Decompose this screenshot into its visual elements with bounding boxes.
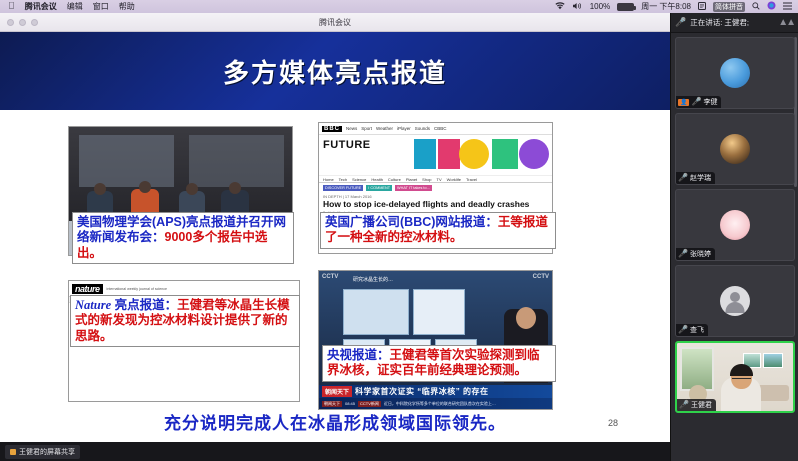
caption-aps: 美国物理学会(APS)亮点报道并召开网络新闻发布会：9000多个报告中选出。 (72, 212, 294, 264)
menubar-clock[interactable]: 周一 下午8:08 (641, 1, 691, 12)
caption-cctv-blue: 央视报道： (327, 348, 390, 362)
volume-icon[interactable] (572, 2, 583, 12)
cctv-headline: 科学家首次证实 “临界冰核” 的存在 (355, 386, 488, 397)
input-method-label[interactable]: 简体拼音 (713, 2, 745, 12)
minimize-icon[interactable] (19, 19, 26, 26)
menu-app-name[interactable]: 腾讯会议 (25, 1, 57, 12)
bbc-nav: News Sport Weather iPlayer Sounds CBBC (346, 126, 447, 131)
battery-icon[interactable] (617, 3, 634, 11)
participant-name: 王健君 (691, 400, 712, 410)
cctv-watermark-right: CCTV (533, 274, 549, 280)
nature-tagline: international weekly journal of science (107, 287, 168, 291)
screen-share-label: 王健君的屏幕共享 (19, 447, 75, 457)
window-traffic-lights[interactable] (7, 19, 38, 26)
caption-nature-journal: Nature (75, 298, 111, 312)
participant-namebar: 🎤 查飞 (676, 324, 708, 336)
mic-muted-icon: 🎤 (678, 250, 688, 258)
host-badge-icon: 👤 (678, 99, 689, 106)
bbc-future-brand: FUTURE (323, 139, 371, 151)
bbc-headline: How to stop ice-delayed flights and dead… (319, 199, 552, 209)
caption-nature-blue: 亮点报道： (111, 298, 177, 312)
bbc-tags: DISCOVER FUTURE I COMMENT WHAT IT takes … (319, 183, 552, 192)
app-bottom-bar: 王健君的屏幕共享 (0, 442, 670, 461)
search-icon[interactable] (752, 2, 760, 12)
input-source-icon[interactable] (698, 2, 706, 12)
active-speaker-label: 正在讲话: 王健君; (690, 17, 749, 28)
share-icon (10, 449, 16, 455)
presentation-slide: 多方媒体亮点报道 (0, 32, 670, 442)
menu-edit[interactable]: 编辑 (67, 1, 83, 12)
bbc-kicker: IN DEPTH | 17 March 2016 (319, 192, 552, 199)
participant-namebar: 🎤 张晓婷 (676, 248, 715, 260)
control-center-icon[interactable] (783, 2, 792, 12)
caption-cctv: 央视报道：王健君等首次实验探测到临界冰核，证实百年前经典理论预测。 (322, 345, 556, 382)
tencent-meeting-icon: ▲▲ (778, 17, 794, 28)
menu-help[interactable]: 帮助 (119, 1, 135, 12)
menu-window[interactable]: 窗口 (93, 1, 109, 12)
close-icon[interactable] (7, 19, 14, 26)
slide-title: 多方媒体亮点报道 (223, 53, 447, 90)
mic-muted-icon: 🎤 (675, 18, 686, 27)
wifi-icon[interactable] (555, 2, 565, 12)
participant-tile-lijian[interactable]: 👤 🎤 李健 (675, 37, 795, 109)
caption-bbc: 英国广播公司(BBC)网站报道：王等报道了一种全新的控冰材料。 (320, 212, 556, 249)
avatar (720, 286, 750, 316)
zoom-icon[interactable] (31, 19, 38, 26)
mic-muted-icon: 🎤 (678, 326, 688, 334)
participants-list: 👤 🎤 李健 🎤 赵学瑞 🎤 张晓婷 (671, 33, 798, 417)
screen-root:  腾讯会议 编辑 窗口 帮助 100% 周一 下午8:08 简体拼音 (0, 0, 798, 461)
caption-nature: Nature 亮点报道：王健君等冰晶生长模式的新发现为控冰材料设计提供了新的思路… (70, 295, 300, 347)
participant-name: 李健 (703, 97, 717, 107)
participant-name: 查飞 (690, 325, 704, 335)
cctv-ticker-tag: CCTV新闻 (358, 401, 381, 407)
active-speaker-header: 🎤 正在讲话: 王健君; ▲▲ (671, 13, 798, 33)
participant-name: 赵学瑞 (690, 173, 711, 183)
participant-tile-zhafei[interactable]: 🎤 查飞 (675, 265, 795, 337)
participant-tile-zhaoxuerui[interactable]: 🎤 赵学瑞 (675, 113, 795, 185)
bbc-logo: BBC (322, 126, 342, 132)
battery-percent-label: 100% (590, 2, 610, 11)
participant-tile-wangjianjun[interactable]: 🎤 王健君 (675, 341, 795, 413)
cctv-watermark-left: CCTV (322, 274, 338, 280)
cctv-program-badge: 朝闻天下 (322, 386, 352, 397)
avatar (720, 210, 750, 240)
participant-tile-zhangxiaoting[interactable]: 🎤 张晓婷 (675, 189, 795, 261)
nature-logo: nature (72, 284, 103, 294)
apple-menu-icon[interactable]:  (8, 2, 15, 11)
participants-panel: 🎤 正在讲话: 王健君; ▲▲ 👤 🎤 李健 🎤 赵学瑞 (670, 13, 798, 461)
cctv-lower-third: 朝闻天下 科学家首次证实 “临界冰核” 的存在 朝闻天下 08:45 CCTV新… (319, 385, 553, 409)
cctv-broadcast-screenshot: CCTV CCTV 研究冰晶生长的… 朝闻天下 科学家首次证实 “临界冰核” 的… (318, 270, 553, 410)
screen-share-indicator[interactable]: 王健君的屏幕共享 (5, 445, 80, 459)
bbc-decorative-shapes (412, 135, 552, 175)
bbc-subnav: Home Tech Science Health Culture Planet … (319, 175, 552, 183)
mic-muted-icon: 🎤 (691, 98, 701, 106)
participant-namebar: 🎤 王健君 (677, 399, 716, 411)
mic-active-icon: 🎤 (679, 401, 689, 409)
shared-screen-stage[interactable]: 多方媒体亮点报道 (0, 32, 670, 442)
window-titlebar: 腾讯会议 (0, 13, 670, 32)
avatar (720, 134, 750, 164)
siri-icon[interactable] (767, 1, 776, 12)
avatar (720, 58, 750, 88)
cctv-studio-caption: 研究冰晶生长的… (353, 276, 393, 283)
slide-title-band: 多方媒体亮点报道 (0, 32, 670, 110)
slide-body: BBC News Sport Weather iPlayer Sounds CB… (0, 110, 670, 442)
participant-namebar: 🎤 赵学瑞 (676, 172, 715, 184)
macos-menubar:  腾讯会议 编辑 窗口 帮助 100% 周一 下午8:08 简体拼音 (0, 0, 798, 13)
slide-conclusion: 充分说明完成人在冰晶形成领域国际领先。 (0, 409, 670, 434)
cctv-ticker-text: 近日，中科院化学所等多个单位的联合研究团队首次在实验上… (384, 401, 496, 407)
cctv-ticker-badge: 朝闻天下 (322, 401, 342, 407)
mic-muted-icon: 🎤 (678, 174, 688, 182)
participant-name: 张晓婷 (690, 249, 711, 259)
window-title: 腾讯会议 (319, 17, 351, 28)
cctv-ticker-time: 08:45 (345, 401, 355, 406)
participant-namebar: 👤 🎤 李健 (676, 96, 721, 108)
slide-page-number: 28 (608, 418, 618, 428)
caption-bbc-blue: 英国广播公司(BBC)网站报道： (325, 215, 498, 229)
